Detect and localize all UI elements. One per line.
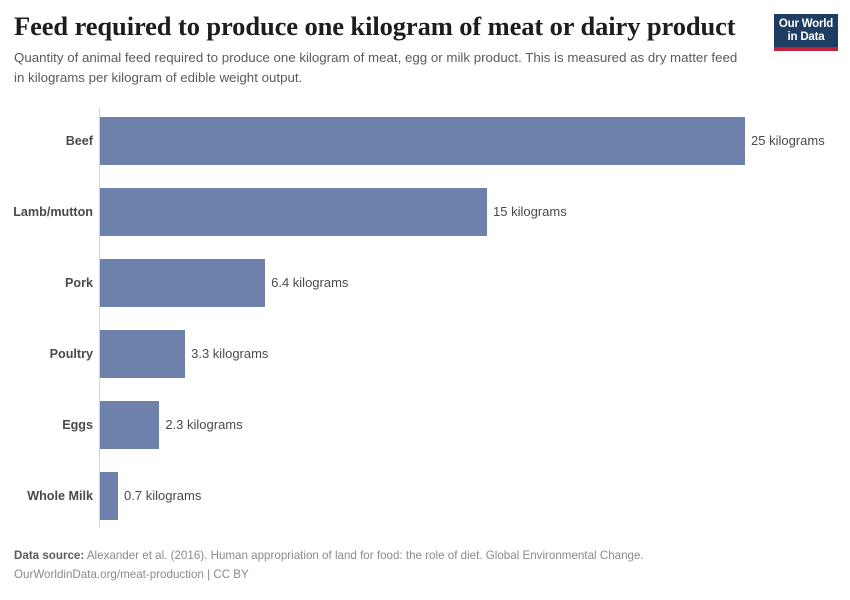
bar[interactable]: [100, 117, 745, 165]
footer-source-text: Alexander et al. (2016). Human appropria…: [87, 549, 644, 562]
bar-category-label: Eggs: [0, 401, 93, 449]
chart-page: Feed required to produce one kilogram of…: [0, 0, 850, 600]
footer-link[interactable]: OurWorldinData.org/meat-production | CC …: [14, 565, 814, 584]
our-world-in-data-logo[interactable]: Our World in Data: [774, 14, 838, 51]
logo-line-1: Our World: [778, 18, 834, 31]
bar-row: Beef25 kilograms: [0, 117, 850, 165]
footer-source-label: Data source:: [14, 549, 84, 562]
bar-value-label: 25 kilograms: [751, 117, 825, 165]
chart-header: Feed required to produce one kilogram of…: [14, 10, 836, 87]
bar-value-label: 2.3 kilograms: [165, 401, 242, 449]
bar-category-label: Lamb/mutton: [0, 188, 93, 236]
bar-category-label: Pork: [0, 259, 93, 307]
bar-row: Poultry3.3 kilograms: [0, 330, 850, 378]
bar-category-label: Beef: [0, 117, 93, 165]
chart-footer: Data source: Alexander et al. (2016). Hu…: [14, 546, 814, 584]
bar-value-label: 3.3 kilograms: [191, 330, 268, 378]
page-subtitle: Quantity of animal feed required to prod…: [14, 48, 747, 87]
bar-value-label: 15 kilograms: [493, 188, 567, 236]
bar[interactable]: [100, 472, 118, 520]
bar[interactable]: [100, 401, 159, 449]
bar[interactable]: [100, 188, 487, 236]
bar-value-label: 6.4 kilograms: [271, 259, 348, 307]
bar[interactable]: [100, 259, 265, 307]
page-title: Feed required to produce one kilogram of…: [14, 10, 759, 42]
data-source-label: Data source:: [14, 549, 84, 562]
bar-row: Whole Milk0.7 kilograms: [0, 472, 850, 520]
y-axis-line: [99, 108, 100, 528]
bar-row: Pork6.4 kilograms: [0, 259, 850, 307]
bar[interactable]: [100, 330, 185, 378]
bar-chart: Beef25 kilogramsLamb/mutton15 kilogramsP…: [0, 106, 850, 531]
bar-row: Lamb/mutton15 kilograms: [0, 188, 850, 236]
bar-category-label: Poultry: [0, 330, 93, 378]
bar-row: Eggs2.3 kilograms: [0, 401, 850, 449]
bar-value-label: 0.7 kilograms: [124, 472, 201, 520]
bar-category-label: Whole Milk: [0, 472, 93, 520]
logo-line-2: in Data: [778, 31, 834, 44]
